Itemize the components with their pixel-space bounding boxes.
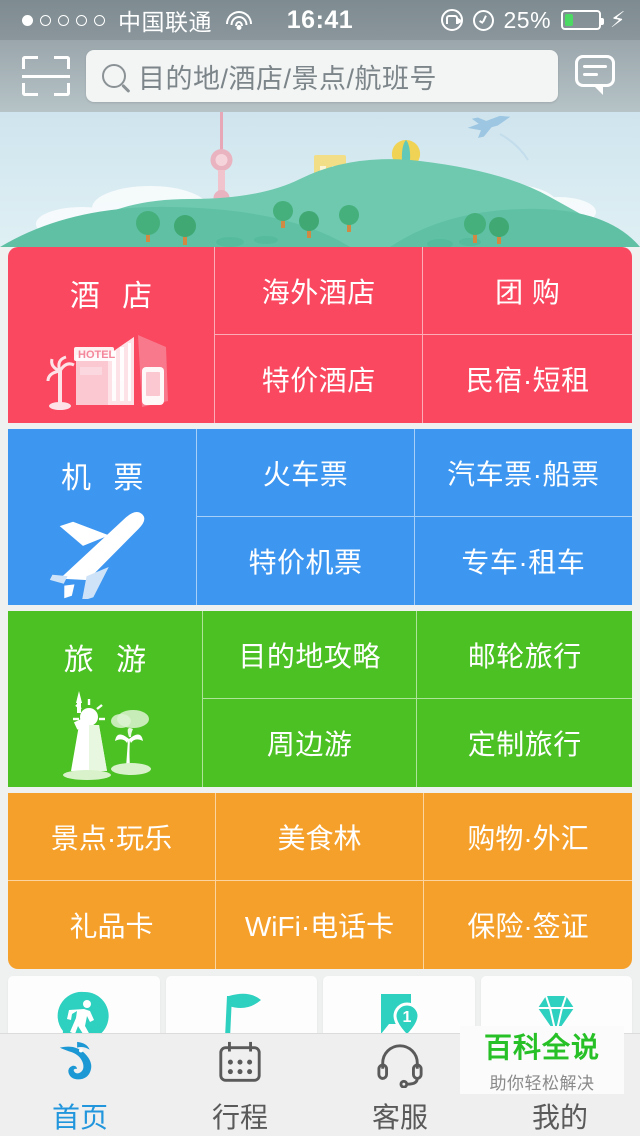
- category-cell-bus-ship-ticket[interactable]: 汽车票·船票: [415, 429, 632, 517]
- category-tour-cells: 目的地攻略 邮轮旅行 周边游 定制旅行: [203, 611, 632, 787]
- category-grid: 酒 店 HOTEL: [0, 247, 640, 969]
- category-hotel-main[interactable]: 酒 店 HOTEL: [8, 247, 215, 423]
- message-bubble-icon[interactable]: [572, 53, 620, 99]
- tab-home[interactable]: 首页: [0, 1034, 160, 1136]
- watermark-subtitle: 助你轻松解决: [490, 1069, 595, 1094]
- section-hotel: 酒 店 HOTEL: [8, 247, 632, 423]
- section-services: 景点·玩乐 美食林 购物·外汇 礼品卡 WiFi·电话卡 保险·签证: [8, 793, 632, 969]
- battery-icon: [561, 10, 601, 30]
- tab-trips-label: 行程: [212, 1096, 268, 1136]
- category-cell-attractions[interactable]: 景点·玩乐: [8, 793, 216, 881]
- tab-mine-label: 我的: [532, 1096, 588, 1136]
- category-cell-overseas-hotel[interactable]: 海外酒店: [215, 247, 424, 335]
- tab-home-label: 首页: [52, 1096, 108, 1136]
- category-cell-wifi-simcard[interactable]: WiFi·电话卡: [216, 881, 424, 969]
- category-cell-homestay[interactable]: 民宿·短租: [423, 335, 632, 423]
- rotation-lock-icon: [441, 9, 463, 31]
- search-header: 目的地/酒店/景点/航班号: [0, 40, 640, 112]
- svg-text:HOTEL: HOTEL: [78, 349, 116, 361]
- alarm-clock-icon: [473, 10, 494, 31]
- status-bar-clock: 16:41: [0, 6, 640, 35]
- category-tour-main[interactable]: 旅 游: [8, 611, 203, 787]
- category-flight-main[interactable]: 机 票: [8, 429, 197, 605]
- category-services-cells: 景点·玩乐 美食林 购物·外汇 礼品卡 WiFi·电话卡 保险·签证: [8, 793, 632, 969]
- category-cell-group-buy[interactable]: 团 购: [423, 247, 632, 335]
- search-placeholder: 目的地/酒店/景点/航班号: [138, 57, 437, 96]
- tab-service[interactable]: 客服: [320, 1034, 480, 1136]
- calendar-icon: [214, 1040, 266, 1088]
- category-cell-deal-flight[interactable]: 特价机票: [197, 517, 414, 605]
- category-cell-nearby-tour[interactable]: 周边游: [203, 699, 418, 787]
- category-flight-cells: 火车票 汽车票·船票 特价机票 专车·租车: [197, 429, 632, 605]
- category-flight-label: 机 票: [54, 453, 150, 497]
- map-pin-badge-count: 1: [402, 1009, 411, 1026]
- category-cell-cruise[interactable]: 邮轮旅行: [417, 611, 632, 699]
- section-flight: 机 票 火车票 汽车票·船票 特价机票: [8, 429, 632, 605]
- search-icon: [102, 64, 126, 88]
- section-tour: 旅 游: [8, 611, 632, 787]
- airplane-icon: [36, 503, 168, 604]
- headset-icon: [374, 1040, 426, 1088]
- category-cell-train-ticket[interactable]: 火车票: [197, 429, 414, 517]
- category-cell-custom-tour[interactable]: 定制旅行: [417, 699, 632, 787]
- category-hotel-cells: 海外酒店 团 购 特价酒店 民宿·短租: [215, 247, 632, 423]
- dolphin-icon: [53, 1040, 107, 1088]
- app-screen: 中国联通 16:41 25% ⚡ 目的地/酒店/景点/航班号: [0, 0, 640, 1136]
- scan-qr-icon[interactable]: [20, 54, 72, 98]
- hotel-building-icon: HOTEL: [46, 321, 176, 422]
- tab-trips[interactable]: 行程: [160, 1034, 320, 1136]
- banner-illustration: [0, 112, 640, 247]
- category-cell-destination-guide[interactable]: 目的地攻略: [203, 611, 418, 699]
- category-hotel-label: 酒 店: [63, 271, 159, 315]
- tab-service-label: 客服: [372, 1096, 428, 1136]
- category-cell-car-rental[interactable]: 专车·租车: [415, 517, 632, 605]
- category-cell-deal-hotel[interactable]: 特价酒店: [215, 335, 424, 423]
- search-input[interactable]: 目的地/酒店/景点/航班号: [86, 50, 558, 102]
- category-cell-insurance-visa[interactable]: 保险·签证: [424, 881, 632, 969]
- category-cell-gift-card[interactable]: 礼品卡: [8, 881, 216, 969]
- watermark-title: 百科全说: [484, 1026, 600, 1066]
- watermark-overlay: 百科全说 助你轻松解决: [460, 1026, 624, 1094]
- category-cell-shopping-forex[interactable]: 购物·外汇: [424, 793, 632, 881]
- statue-of-liberty-icon: [41, 685, 169, 786]
- category-tour-label: 旅 游: [57, 635, 153, 679]
- category-cell-food[interactable]: 美食林: [216, 793, 424, 881]
- hero-banner: [0, 112, 640, 247]
- status-bar: 中国联通 16:41 25% ⚡: [0, 0, 640, 40]
